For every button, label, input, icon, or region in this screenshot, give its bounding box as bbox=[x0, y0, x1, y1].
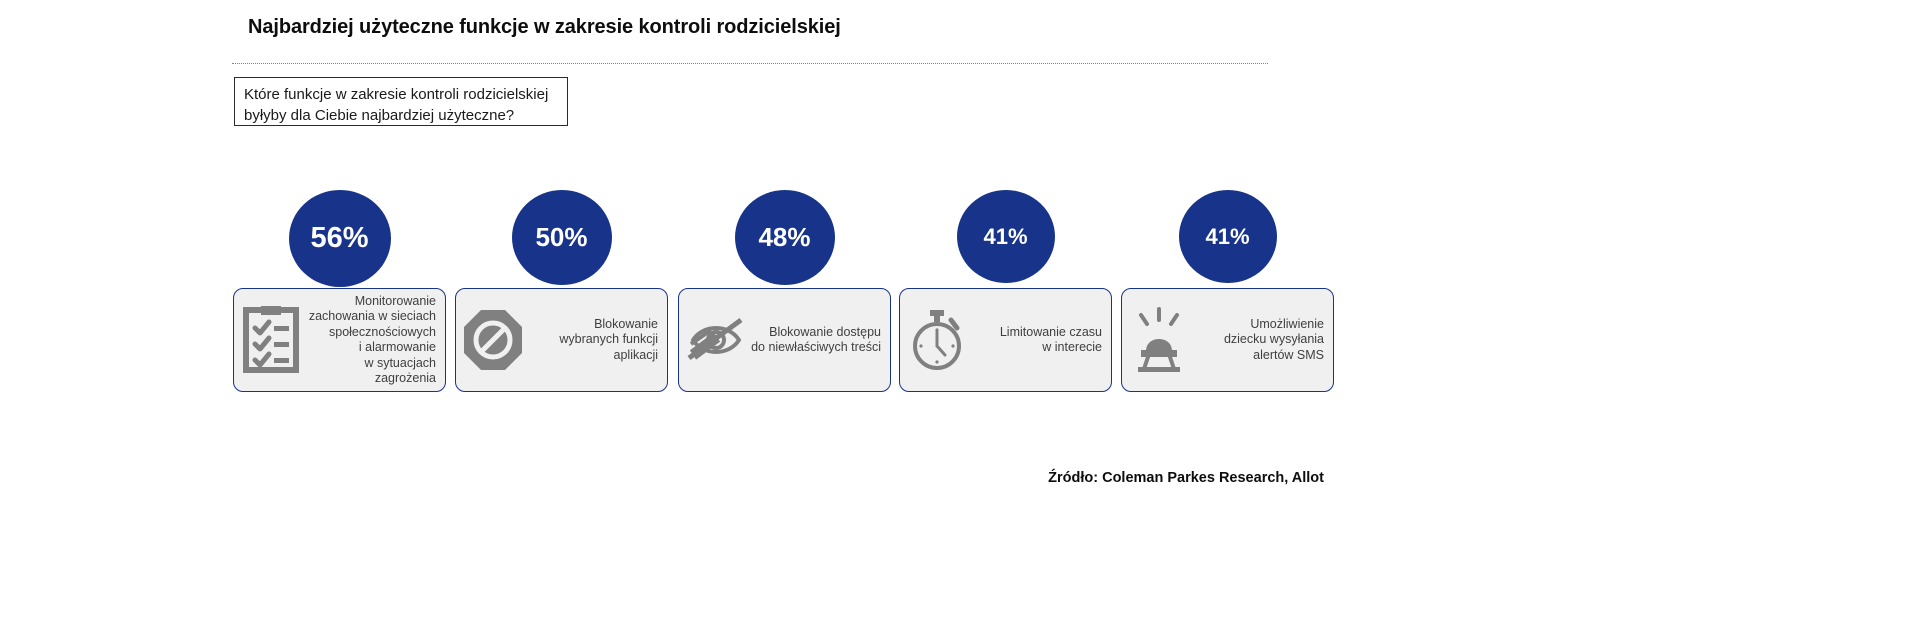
feature-column-1: 56% Monitorowanie zachowania w sieciach bbox=[233, 190, 446, 392]
percentage-bubble-5: 41% bbox=[1179, 190, 1277, 283]
feature-line: w interecie bbox=[968, 340, 1102, 356]
question-box: Które funkcje w zakresie kontroli rodzic… bbox=[234, 77, 568, 126]
feature-card-5[interactable]: Umożliwienie dziecku wysyłania alertów S… bbox=[1121, 288, 1334, 392]
feature-card-1[interactable]: Monitorowanie zachowania w sieciach społ… bbox=[233, 288, 446, 392]
stopwatch-icon bbox=[906, 304, 968, 376]
source-note: Źródło: Coleman Parkes Research, Allot bbox=[1048, 470, 1324, 486]
percentage-value-5: 41% bbox=[1205, 224, 1249, 250]
alarm-siren-icon bbox=[1128, 304, 1190, 376]
feature-card-text-4: Limitowanie czasu w interecie bbox=[968, 325, 1104, 356]
feature-card-4[interactable]: Limitowanie czasu w interecie bbox=[899, 288, 1112, 392]
feature-line: Limitowanie czasu bbox=[968, 325, 1102, 341]
feature-line: zachowania w sieciach bbox=[302, 309, 436, 325]
feature-card-text-2: Blokowanie wybranych funkcji aplikacji bbox=[524, 317, 660, 364]
feature-line: do niewłaściwych treści bbox=[747, 340, 881, 356]
feature-line: alertów SMS bbox=[1190, 348, 1324, 364]
feature-column-4: 41% Limitowanie czasu w i bbox=[899, 190, 1112, 392]
title-divider bbox=[232, 63, 1268, 65]
feature-line: Monitorowanie bbox=[302, 294, 436, 310]
page-title: Najbardziej użyteczne funkcje w zakresie… bbox=[248, 16, 841, 39]
percentage-bubble-3: 48% bbox=[735, 190, 835, 285]
feature-column-2: 50% Blokowanie wybranych funkcji aplikac… bbox=[455, 190, 668, 392]
feature-line: aplikacji bbox=[524, 348, 658, 364]
percentage-value-1: 56% bbox=[310, 222, 368, 255]
feature-line: i alarmowanie bbox=[302, 340, 436, 356]
feature-column-5: 41% Umożliwienie dziecku wysyłania aler bbox=[1121, 190, 1334, 392]
feature-line: w sytuacjach zagrożenia bbox=[302, 356, 436, 387]
feature-line: Umożliwienie bbox=[1190, 317, 1324, 333]
percentage-bubble-2: 50% bbox=[512, 190, 612, 285]
eye-crossed-out-icon bbox=[685, 304, 747, 376]
feature-card-text-5: Umożliwienie dziecku wysyłania alertów S… bbox=[1190, 317, 1326, 364]
feature-line: Blokowanie dostępu bbox=[747, 325, 881, 341]
percentage-value-4: 41% bbox=[983, 224, 1027, 250]
checklist-clipboard-icon bbox=[240, 304, 302, 376]
feature-card-3[interactable]: Blokowanie dostępu do niewłaściwych treś… bbox=[678, 288, 891, 392]
feature-card-2[interactable]: Blokowanie wybranych funkcji aplikacji bbox=[455, 288, 668, 392]
feature-card-text-3: Blokowanie dostępu do niewłaściwych treś… bbox=[747, 325, 883, 356]
feature-line: dziecku wysyłania bbox=[1190, 332, 1324, 348]
feature-columns: 56% Monitorowanie zachowania w sieciach bbox=[233, 190, 1335, 392]
feature-card-text-1: Monitorowanie zachowania w sieciach społ… bbox=[302, 294, 438, 387]
percentage-bubble-4: 41% bbox=[957, 190, 1055, 283]
feature-line: wybranych funkcji bbox=[524, 332, 658, 348]
percentage-bubble-1: 56% bbox=[289, 190, 391, 287]
percentage-value-2: 50% bbox=[535, 222, 587, 253]
percentage-value-3: 48% bbox=[758, 222, 810, 253]
question-line-2: byłyby dla Ciebie najbardziej użyteczne? bbox=[244, 105, 559, 126]
prohibition-sign-icon bbox=[462, 304, 524, 376]
feature-line: Blokowanie bbox=[524, 317, 658, 333]
question-line-1: Które funkcje w zakresie kontroli rodzic… bbox=[244, 84, 559, 105]
feature-line: społecznościowych bbox=[302, 325, 436, 341]
feature-column-3: 48% Blokowanie dostępu do niewłaściwych … bbox=[678, 190, 891, 392]
